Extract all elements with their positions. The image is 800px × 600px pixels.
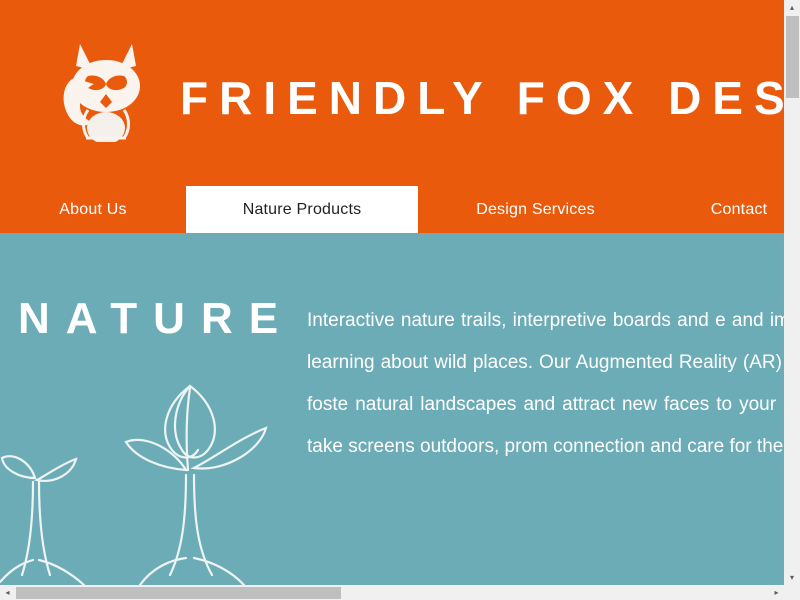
- vertical-scrollbar-thumb[interactable]: [786, 16, 799, 98]
- scrollbar-corner: [784, 585, 800, 600]
- nav-item-about-us[interactable]: About Us: [0, 186, 186, 233]
- scroll-down-button[interactable]: ▾: [784, 570, 800, 585]
- nav-item-design-services[interactable]: Design Services: [418, 186, 653, 233]
- caret-left-icon: ◂: [5, 589, 9, 597]
- scroll-up-button[interactable]: ▴: [784, 0, 800, 15]
- section-heading-nature: NATURE: [18, 295, 294, 343]
- body-copy: Interactive nature trails, interpretive …: [307, 300, 784, 468]
- browser-viewport: FRIENDLY FOX DESIG About Us Nature Produ…: [0, 0, 784, 585]
- brand-title: FRIENDLY FOX DESIG: [180, 66, 784, 130]
- caret-down-icon: ▾: [790, 574, 794, 582]
- scroll-left-button[interactable]: ◂: [0, 585, 15, 600]
- caret-up-icon: ▴: [790, 4, 794, 12]
- body-copy-text: Interactive nature trails, interpretive …: [307, 300, 784, 468]
- site-header: FRIENDLY FOX DESIG: [0, 0, 784, 186]
- page-content: FRIENDLY FOX DESIG About Us Nature Produ…: [0, 0, 784, 585]
- nav-item-nature-products[interactable]: Nature Products: [186, 186, 418, 233]
- scroll-right-button[interactable]: ▸: [769, 585, 784, 600]
- caret-right-icon: ▸: [774, 589, 778, 597]
- fox-logo-icon[interactable]: [60, 32, 152, 142]
- horizontal-scrollbar-thumb[interactable]: [16, 587, 341, 599]
- nav-item-contact[interactable]: Contact: [653, 186, 784, 233]
- main-navigation: About Us Nature Products Design Services…: [0, 186, 784, 233]
